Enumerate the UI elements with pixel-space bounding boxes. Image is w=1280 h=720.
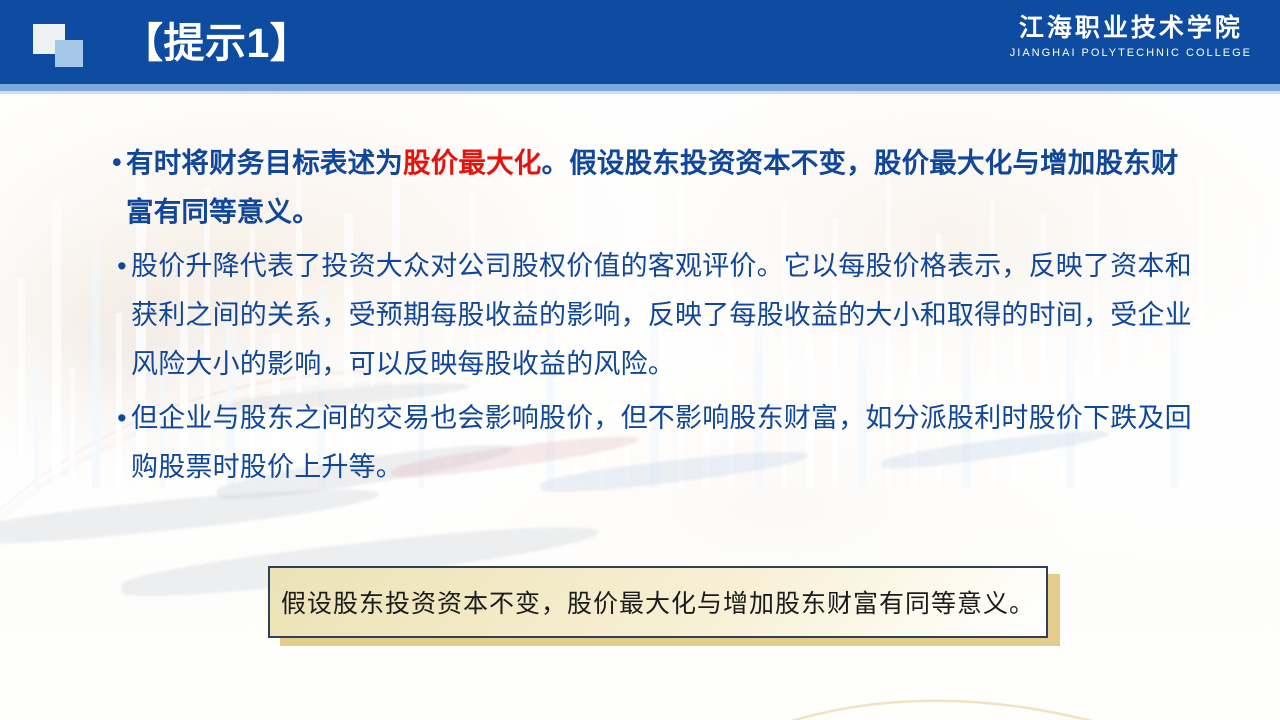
page-title: 【提示1】: [122, 14, 311, 72]
logo-square-blue: [55, 40, 83, 67]
bullet-1-highlight: 股价最大化: [403, 147, 542, 178]
college-name-cn: 江海职业技术学院: [1010, 12, 1252, 44]
bullet-marker: •: [108, 138, 126, 187]
bullet-2-text: 股价升降代表了投资大众对公司股权价值的客观评价。它以每股价格表示，反映了资本和获…: [131, 242, 1193, 389]
callout-box: 假设股东投资资本不变，股价最大化与增加股东财富有同等意义。: [268, 566, 1048, 638]
bullet-1-text: 有时将财务目标表述为股价最大化。假设股东投资资本不变，股价最大化与增加股东财富有…: [126, 138, 1186, 236]
college-name-en: JIANGHAI POLYTECHNIC COLLEGE: [1010, 45, 1252, 61]
bullet-1-part1: 有时将财务目标表述为: [126, 147, 403, 178]
header-accent-line-2: [0, 91, 1280, 94]
callout-box-wrapper: 假设股东投资资本不变，股价最大化与增加股东财富有同等意义。: [268, 566, 1048, 638]
slide-header-bar: 【提示1】 江海职业技术学院 JIANGHAI POLYTECHNIC COLL…: [0, 0, 1280, 84]
slide: 【提示1】 江海职业技术学院 JIANGHAI POLYTECHNIC COLL…: [0, 0, 1280, 720]
bullet-3-text: 但企业与股东之间的交易也会影响股价，但不影响股东财富，如分派股利时股价下跌及回购…: [131, 394, 1193, 492]
bullet-item-1: • 有时将财务目标表述为股价最大化。假设股东投资资本不变，股价最大化与增加股东财…: [108, 138, 1186, 236]
college-brand: 江海职业技术学院 JIANGHAI POLYTECHNIC COLLEGE: [1010, 12, 1252, 61]
bullet-marker: •: [113, 242, 131, 291]
callout-text: 假设股东投资资本不变，股价最大化与增加股东财富有同等意义。: [281, 584, 1035, 620]
bullet-item-3: • 但企业与股东之间的交易也会影响股价，但不影响股东财富，如分派股利时股价下跌及…: [113, 394, 1193, 492]
header-accent-line: [0, 84, 1280, 91]
bullet-marker: •: [113, 394, 131, 443]
two-squares-logo-icon: [33, 24, 89, 68]
bullet-item-2: • 股价升降代表了投资大众对公司股权价值的客观评价。它以每股价格表示，反映了资本…: [113, 242, 1193, 389]
